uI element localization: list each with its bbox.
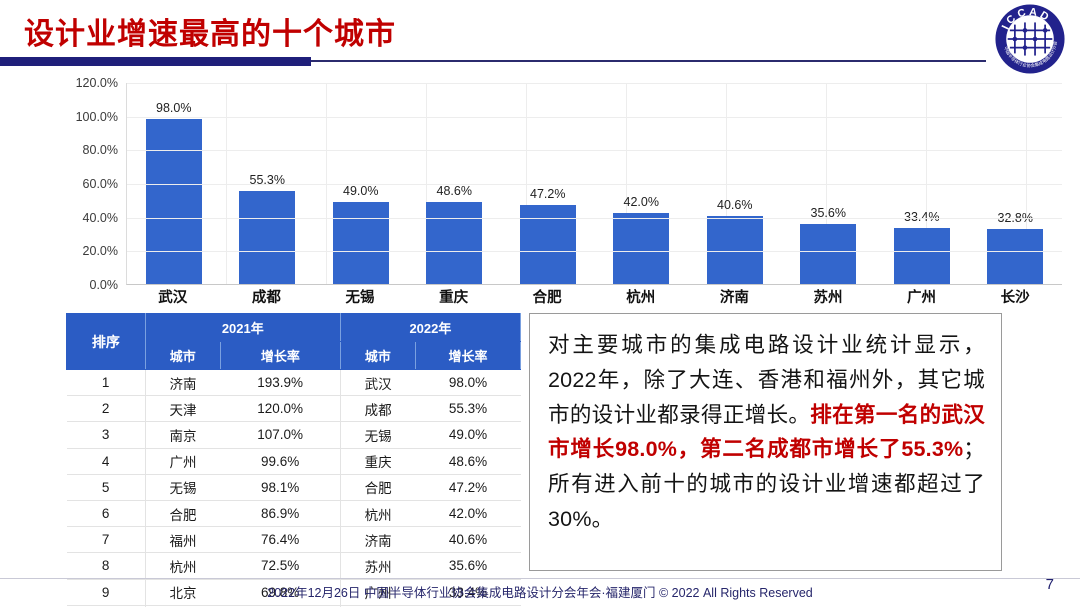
chart-bar-value-label: 98.0% — [127, 101, 221, 115]
chart-plot-area: 98.0%55.3%49.0%48.6%47.2%42.0%40.6%35.6%… — [126, 83, 1062, 285]
chart-bar — [520, 205, 576, 284]
page-number: 7 — [1046, 576, 1054, 593]
table-cell-rate-2021: 107.0% — [220, 422, 340, 448]
slide-root: 设计业增速最高的十个城市 — [0, 0, 1080, 607]
table-cell-rank: 2 — [67, 396, 146, 422]
city-growth-table: 排序 2021年 2022年 城市 增长率 城市 增长率 1济南193.9%武汉… — [66, 313, 521, 607]
table-body: 1济南193.9%武汉98.0%2天津120.0%成都55.3%3南京107.0… — [67, 370, 521, 607]
chart-bar-value-label: 40.6% — [688, 198, 782, 212]
table-cell-rate-2022: 35.6% — [415, 553, 520, 579]
chart-y-tick: 120.0% — [76, 76, 118, 90]
chart-x-tick-label: 合肥 — [500, 286, 594, 307]
table-row: 5无锡98.1%合肥47.2% — [67, 474, 521, 500]
commentary-text: 对主要城市的集成电路设计业统计显示，2022年，除了大连、香港和福州外，其它城市… — [548, 328, 985, 537]
table-cell-rate-2022: 48.6% — [415, 448, 520, 474]
chart-x-tick-label: 武汉 — [126, 286, 220, 307]
table-cell-city-2022: 武汉 — [340, 370, 415, 396]
table-cell-rate-2022: 40.6% — [415, 527, 520, 553]
table-cell-rate-2022: 55.3% — [415, 396, 520, 422]
chart-gridline — [127, 150, 1062, 151]
chart-gridline — [127, 83, 1062, 84]
chart-x-tick-label: 长沙 — [968, 286, 1062, 307]
chart-bar — [333, 202, 389, 284]
chart-x-tick-label: 苏州 — [781, 286, 875, 307]
chart-y-tick: 40.0% — [83, 211, 118, 225]
chart-bar-value-label: 48.6% — [408, 184, 502, 198]
chart-y-tick: 0.0% — [90, 278, 119, 292]
chart-y-tick: 100.0% — [76, 110, 118, 124]
table-cell-city-2022: 成都 — [340, 396, 415, 422]
table-cell-city-2021: 无锡 — [145, 474, 220, 500]
chart-bar — [146, 119, 202, 284]
table-subheader-rate-2022: 增长率 — [415, 342, 520, 370]
table-cell-rate-2021: 193.9% — [220, 370, 340, 396]
table-subheader-city-2022: 城市 — [340, 342, 415, 370]
table-cell-rate-2021: 86.9% — [220, 500, 340, 526]
table-subheader-city-2021: 城市 — [145, 342, 220, 370]
table-cell-city-2022: 重庆 — [340, 448, 415, 474]
chart-x-tick-label: 广州 — [875, 286, 969, 307]
table-cell-city-2022: 合肥 — [340, 474, 415, 500]
table-cell-rank: 6 — [67, 500, 146, 526]
chart-bar — [613, 213, 669, 284]
chart-bar — [426, 202, 482, 284]
table-header-rank: 排序 — [67, 314, 146, 370]
table-cell-rate-2022: 47.2% — [415, 474, 520, 500]
table-cell-rate-2021: 98.1% — [220, 474, 340, 500]
growth-rate-bar-chart: 120.0%100.0%80.0%60.0%40.0%20.0%0.0% 98.… — [62, 78, 1062, 303]
chart-x-tick-label: 无锡 — [313, 286, 407, 307]
table-cell-rate-2021: 120.0% — [220, 396, 340, 422]
chart-bar — [239, 191, 295, 284]
chart-x-tick-label: 成都 — [220, 286, 314, 307]
title-rule-thin — [311, 60, 986, 62]
table-cell-city-2021: 济南 — [145, 370, 220, 396]
table-cell-rate-2021: 72.5% — [220, 553, 340, 579]
table-cell-city-2021: 合肥 — [145, 500, 220, 526]
page-title: 设计业增速最高的十个城市 — [24, 9, 396, 53]
chart-bar-value-label: 47.2% — [501, 187, 595, 201]
table-row: 2天津120.0%成都55.3% — [67, 396, 521, 422]
chart-bar — [987, 229, 1043, 284]
table-cell-city-2021: 福州 — [145, 527, 220, 553]
table-cell-city-2022: 济南 — [340, 527, 415, 553]
chart-x-axis-labels: 武汉成都无锡重庆合肥杭州济南苏州广州长沙 — [126, 286, 1062, 307]
chart-y-axis: 120.0%100.0%80.0%60.0%40.0%20.0%0.0% — [62, 78, 124, 285]
table-cell-city-2021: 广州 — [145, 448, 220, 474]
table-row: 8杭州72.5%苏州35.6% — [67, 553, 521, 579]
chart-gridline — [127, 184, 1062, 185]
table-cell-rate-2021: 76.4% — [220, 527, 340, 553]
iccad-logo-icon: I C C A D 中国半导体行业协会集成电路设计分会 — [994, 3, 1066, 75]
chart-x-tick-label: 杭州 — [594, 286, 688, 307]
table-header-2021: 2021年 — [145, 314, 340, 342]
table-row: 4广州99.6%重庆48.6% — [67, 448, 521, 474]
chart-gridline — [127, 117, 1062, 118]
table-cell-rate-2022: 98.0% — [415, 370, 520, 396]
chart-y-tick: 60.0% — [83, 177, 118, 191]
table-cell-rate-2022: 49.0% — [415, 422, 520, 448]
chart-x-tick-label: 重庆 — [407, 286, 501, 307]
table-row: 6合肥86.9%杭州42.0% — [67, 500, 521, 526]
table-cell-rank: 5 — [67, 474, 146, 500]
chart-bar — [800, 224, 856, 284]
table-cell-city-2021: 杭州 — [145, 553, 220, 579]
table-cell-rank: 4 — [67, 448, 146, 474]
table-row: 1济南193.9%武汉98.0% — [67, 370, 521, 396]
title-rule-thick — [0, 57, 311, 66]
chart-bar — [707, 216, 763, 284]
chart-gridline — [127, 218, 1062, 219]
table-header-2022: 2022年 — [340, 314, 520, 342]
chart-bar-value-label: 49.0% — [314, 184, 408, 198]
table-cell-rate-2022: 42.0% — [415, 500, 520, 526]
table-row: 3南京107.0%无锡49.0% — [67, 422, 521, 448]
table-cell-rank: 8 — [67, 553, 146, 579]
chart-bar — [894, 228, 950, 284]
table-cell-rate-2021: 99.6% — [220, 448, 340, 474]
table-cell-city-2021: 南京 — [145, 422, 220, 448]
table-subheader-rate-2021: 增长率 — [220, 342, 340, 370]
table-cell-rank: 7 — [67, 527, 146, 553]
table-cell-city-2022: 无锡 — [340, 422, 415, 448]
chart-y-tick: 20.0% — [83, 244, 118, 258]
table-row: 7福州76.4%济南40.6% — [67, 527, 521, 553]
table-cell-rank: 3 — [67, 422, 146, 448]
chart-bar-value-label: 42.0% — [595, 195, 689, 209]
table-cell-city-2022: 杭州 — [340, 500, 415, 526]
footer-divider — [0, 578, 1080, 579]
commentary-text-box: 对主要城市的集成电路设计业统计显示，2022年，除了大连、香港和福州外，其它城市… — [529, 313, 1002, 571]
table-cell-rank: 1 — [67, 370, 146, 396]
chart-x-tick-label: 济南 — [688, 286, 782, 307]
chart-y-tick: 80.0% — [83, 143, 118, 157]
table-cell-city-2022: 苏州 — [340, 553, 415, 579]
table-cell-city-2021: 天津 — [145, 396, 220, 422]
footer-text: 2022年12月26日 中国半导体行业协会集成电路设计分会年会·福建厦门 © 2… — [0, 582, 1080, 601]
chart-gridline — [127, 251, 1062, 252]
table-group-header-row: 排序 2021年 2022年 — [67, 314, 521, 342]
